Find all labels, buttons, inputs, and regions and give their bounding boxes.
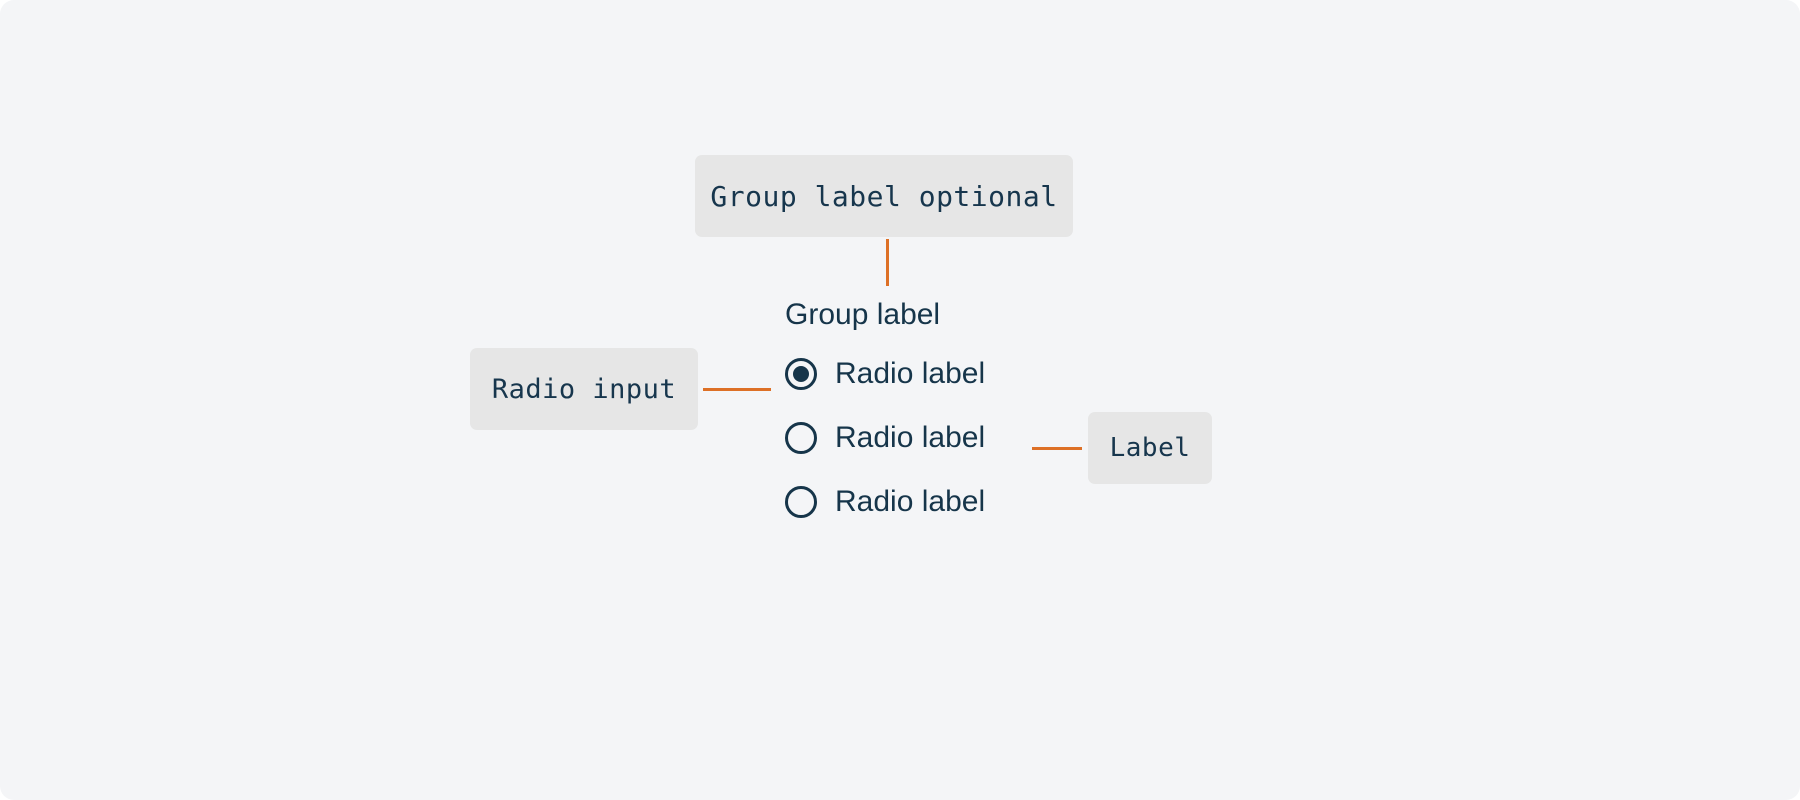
radio-option[interactable]: Radio label <box>785 356 985 392</box>
annotation-label-text: Label <box>1110 433 1191 463</box>
radio-group-label: Group label <box>785 300 985 330</box>
radio-option[interactable]: Radio label <box>785 420 985 456</box>
annotation-group-label-optional: Group label optional <box>695 155 1073 237</box>
anatomy-diagram-canvas: Group label optional Radio input Label G… <box>0 0 1800 800</box>
radio-option-label[interactable]: Radio label <box>835 359 985 389</box>
radio-option[interactable]: Radio label <box>785 484 985 520</box>
radio-selected-icon[interactable] <box>785 358 817 390</box>
radio-option-label[interactable]: Radio label <box>835 423 985 453</box>
connector-line-label <box>1032 447 1082 450</box>
annotation-label: Label <box>1088 412 1212 484</box>
connector-line-radio-input <box>703 388 771 391</box>
annotation-radio-input: Radio input <box>470 348 698 430</box>
annotation-group-label-optional-text: Group label optional <box>710 180 1057 213</box>
radio-option-label[interactable]: Radio label <box>835 487 985 517</box>
radio-unselected-icon[interactable] <box>785 486 817 518</box>
connector-line-group-label <box>886 239 889 286</box>
annotation-radio-input-text: Radio input <box>492 374 676 405</box>
radio-group: Group label Radio label Radio label Radi… <box>785 300 985 520</box>
radio-unselected-icon[interactable] <box>785 422 817 454</box>
